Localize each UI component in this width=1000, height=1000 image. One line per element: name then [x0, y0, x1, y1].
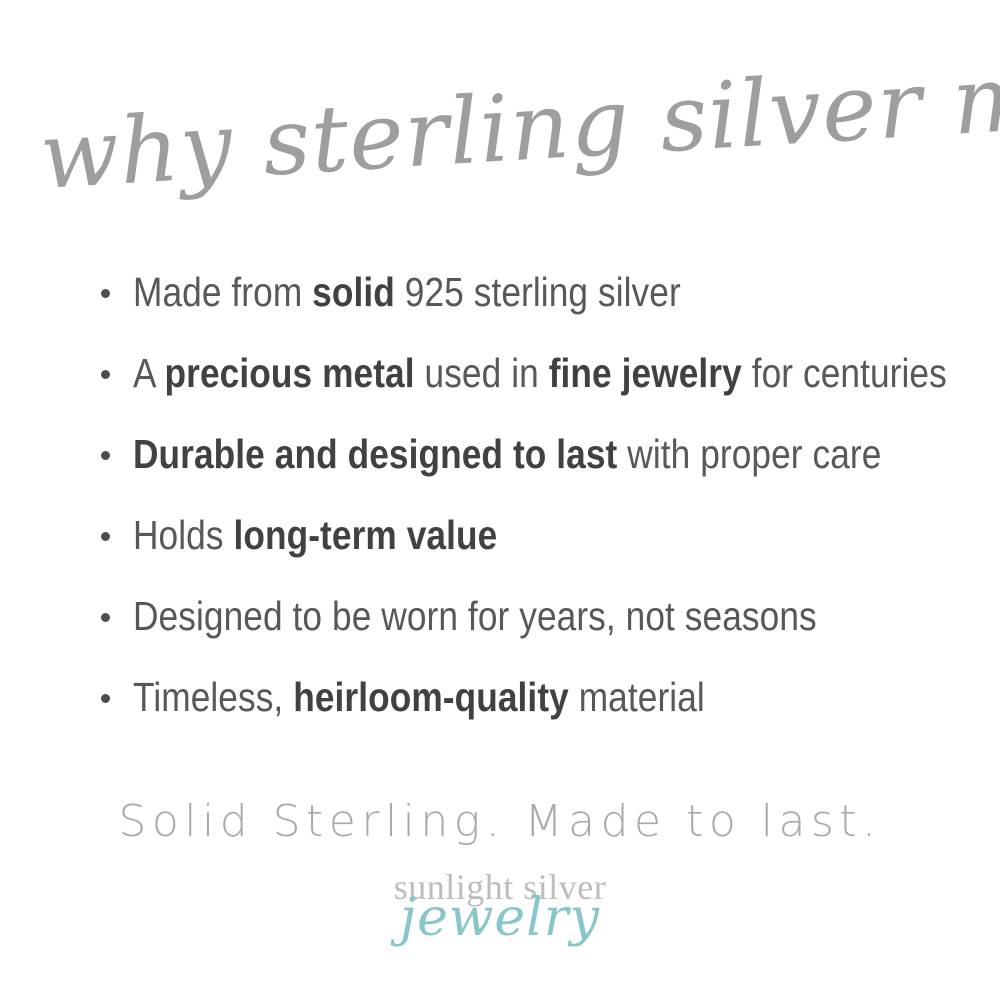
bullet-dot-icon: [101, 613, 110, 622]
text-segment: Timeless,: [133, 674, 293, 720]
text-segment-bold: heirloom-quality: [293, 674, 569, 720]
poster-canvas: why sterling silver matters: Made from s…: [0, 0, 1000, 1000]
list-item: Durable and designed to last with proper…: [96, 414, 986, 495]
list-item-text: Holds long-term value: [133, 514, 497, 557]
text-segment: Made from: [133, 269, 312, 315]
text-segment: A: [133, 350, 165, 396]
bullet-dot-icon: [101, 370, 110, 379]
bullet-dot-icon: [101, 289, 110, 298]
text-segment-bold: fine jewelry: [549, 350, 742, 396]
list-item: Designed to be worn for years, not seaso…: [96, 576, 986, 657]
list-item-text: Timeless, heirloom-quality material: [133, 676, 705, 719]
list-item: A precious metal used in fine jewelry fo…: [96, 333, 986, 414]
text-segment: Holds: [133, 512, 233, 558]
list-item: Made from solid 925 sterling silver: [96, 252, 986, 333]
text-segment-bold: precious metal: [165, 350, 415, 396]
text-segment-bold: long-term value: [233, 512, 497, 558]
bullet-dot-icon: [101, 451, 110, 460]
list-item-text: Made from solid 925 sterling silver: [133, 271, 681, 314]
text-segment-bold: solid: [312, 269, 395, 315]
brand-logo: sunlight silver jewelry: [0, 866, 1000, 976]
headline: why sterling silver matters:: [0, 48, 1000, 228]
list-item: Timeless, heirloom-quality material: [96, 657, 986, 738]
list-item-text: A precious metal used in fine jewelry fo…: [133, 352, 947, 395]
bullet-dot-icon: [101, 694, 110, 703]
text-segment: for centuries: [742, 350, 947, 396]
tagline: Solid Sterling. Made to last.: [0, 796, 1000, 847]
headline-text: why sterling silver matters:: [37, 48, 1000, 210]
list-item: Holds long-term value: [96, 495, 986, 576]
text-segment: 925 sterling silver: [395, 269, 681, 315]
text-segment: used in: [415, 350, 549, 396]
text-segment: material: [569, 674, 705, 720]
list-item-text: Durable and designed to last with proper…: [133, 433, 881, 476]
text-segment: Designed to be worn for years, not seaso…: [133, 593, 817, 639]
bullet-dot-icon: [101, 532, 110, 541]
list-item-text: Designed to be worn for years, not seaso…: [133, 595, 817, 638]
logo-script-text: jewelry: [0, 888, 1000, 948]
text-segment-bold: Durable and designed to last: [133, 431, 617, 477]
text-segment: with proper care: [617, 431, 881, 477]
benefits-list: Made from solid 925 sterling silver A pr…: [96, 252, 986, 738]
